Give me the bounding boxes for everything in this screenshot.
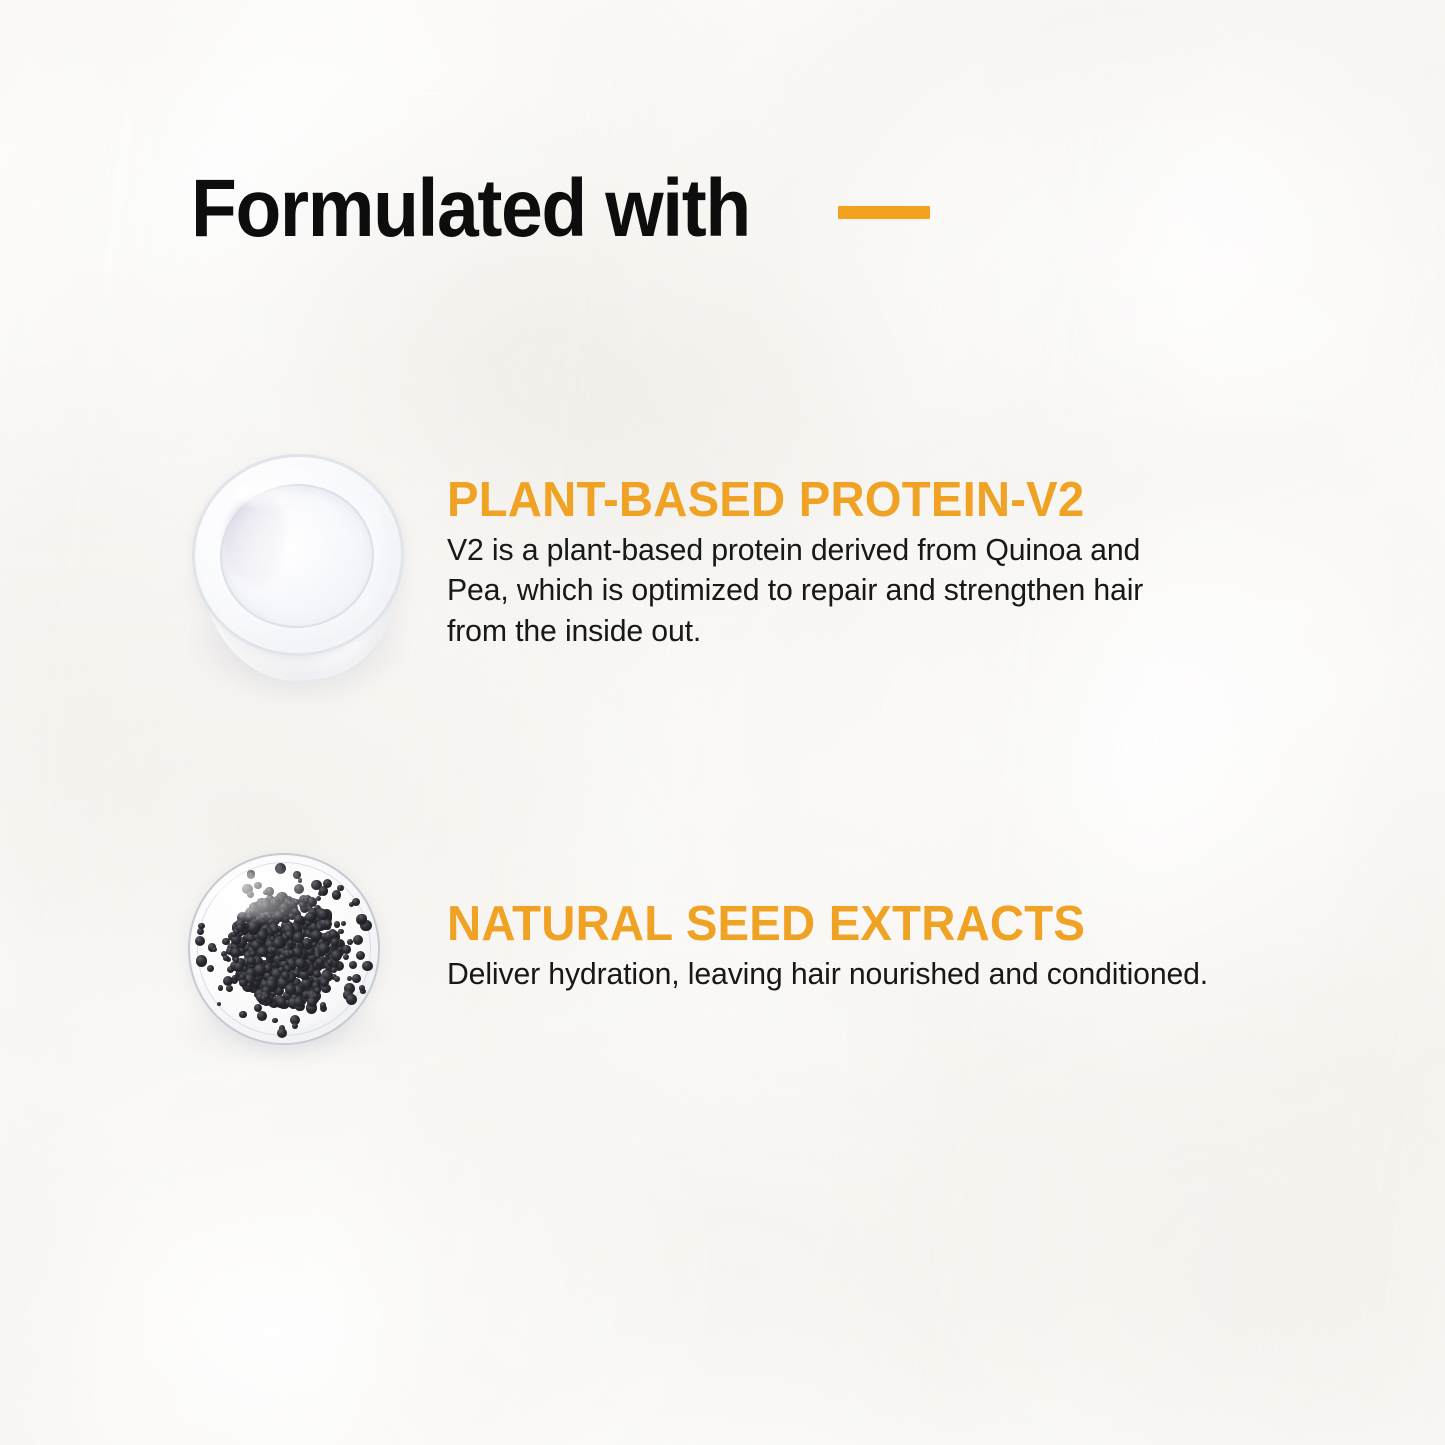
seed-granule <box>198 923 205 930</box>
seed-granule <box>197 928 204 935</box>
seed-granule <box>292 1023 298 1029</box>
seed-granule <box>349 961 357 969</box>
seed-granule <box>332 890 342 900</box>
seed-granule <box>260 914 266 920</box>
seed-granule <box>362 961 373 972</box>
seed-granule <box>227 966 234 973</box>
seed-granule <box>338 929 344 935</box>
seed-granule <box>342 945 351 954</box>
seed-granule <box>295 958 306 969</box>
seed-granule <box>316 924 324 932</box>
seed-granule <box>285 984 296 995</box>
seed-granule <box>294 915 303 924</box>
seed-granule <box>223 955 229 961</box>
seed-granule <box>293 871 301 879</box>
seed-granule <box>343 954 349 960</box>
seed-granule <box>359 985 365 991</box>
seed-granule <box>305 941 310 946</box>
ingredient-description-natural-seed-extracts: Deliver hydration, leaving hair nourishe… <box>447 954 1286 994</box>
seed-granule <box>272 1018 278 1024</box>
seed-granule <box>316 958 324 966</box>
seed-granule <box>239 974 245 980</box>
seed-granule <box>247 871 255 879</box>
seed-granule <box>341 921 346 926</box>
seed-granule <box>317 909 328 920</box>
seed-granule <box>323 879 333 889</box>
seed-granule <box>218 985 224 991</box>
seed-granule <box>239 1011 247 1019</box>
seed-granule <box>334 976 340 982</box>
seed-granule <box>234 957 239 962</box>
seed-granule <box>316 896 321 901</box>
seed-granule <box>231 948 241 958</box>
seed-granule <box>226 985 233 992</box>
seed-granule <box>222 938 229 945</box>
seed-granule <box>346 994 357 1005</box>
seed-granule <box>277 1028 287 1038</box>
seed-granule <box>247 957 255 965</box>
seed-granule <box>349 902 354 907</box>
seed-granule <box>307 997 317 1007</box>
seed-granule <box>250 908 256 914</box>
seed-granule <box>311 930 322 941</box>
seed-cluster <box>190 855 378 1043</box>
seed-granule <box>196 955 207 966</box>
seed-granule <box>331 950 342 961</box>
ingredient-title-natural-seed-extracts: NATURAL SEED EXTRACTS <box>447 900 1277 950</box>
seed-granule <box>293 899 300 906</box>
infographic-page: Formulated with PLANT-BASED PROTEIN-V2 V… <box>0 0 1445 1445</box>
seed-granule <box>305 912 315 922</box>
seed-granule <box>352 974 361 983</box>
seed-granule <box>292 908 299 915</box>
seed-granule <box>271 947 277 953</box>
seed-granule <box>207 965 214 972</box>
seed-granule <box>347 939 353 945</box>
seed-granule <box>347 976 352 981</box>
seed-granule <box>324 920 332 928</box>
seed-granule <box>257 947 268 958</box>
seed-granule <box>247 891 254 898</box>
seed-granule <box>294 997 304 1007</box>
seed-granule <box>358 914 367 923</box>
seed-granule <box>257 1011 267 1021</box>
seed-granule <box>334 921 341 928</box>
petri-dish-plate <box>188 853 380 1045</box>
seed-granule <box>294 884 304 894</box>
seed-granule <box>195 936 205 946</box>
seed-granule <box>337 885 343 891</box>
petri-dish-seeds-icon <box>188 853 380 1045</box>
seed-granule <box>275 863 286 874</box>
ingredient-copy-2: NATURAL SEED EXTRACTS Deliver hydration,… <box>447 900 1307 994</box>
seed-granule <box>331 938 339 946</box>
seed-granule <box>234 962 244 972</box>
seed-granule <box>353 935 363 945</box>
seed-granule <box>212 947 217 952</box>
seed-granule <box>356 951 365 960</box>
seed-granule <box>331 967 337 973</box>
seed-granule <box>279 954 285 960</box>
ingredient-block-natural-seed-extracts: NATURAL SEED EXTRACTS Deliver hydration,… <box>0 0 1445 1445</box>
seed-granule <box>247 921 259 933</box>
seed-granule <box>314 987 321 994</box>
seed-granule <box>254 964 265 975</box>
seed-granule <box>254 882 262 890</box>
seed-granule <box>217 1002 222 1007</box>
seed-granule <box>298 878 303 883</box>
